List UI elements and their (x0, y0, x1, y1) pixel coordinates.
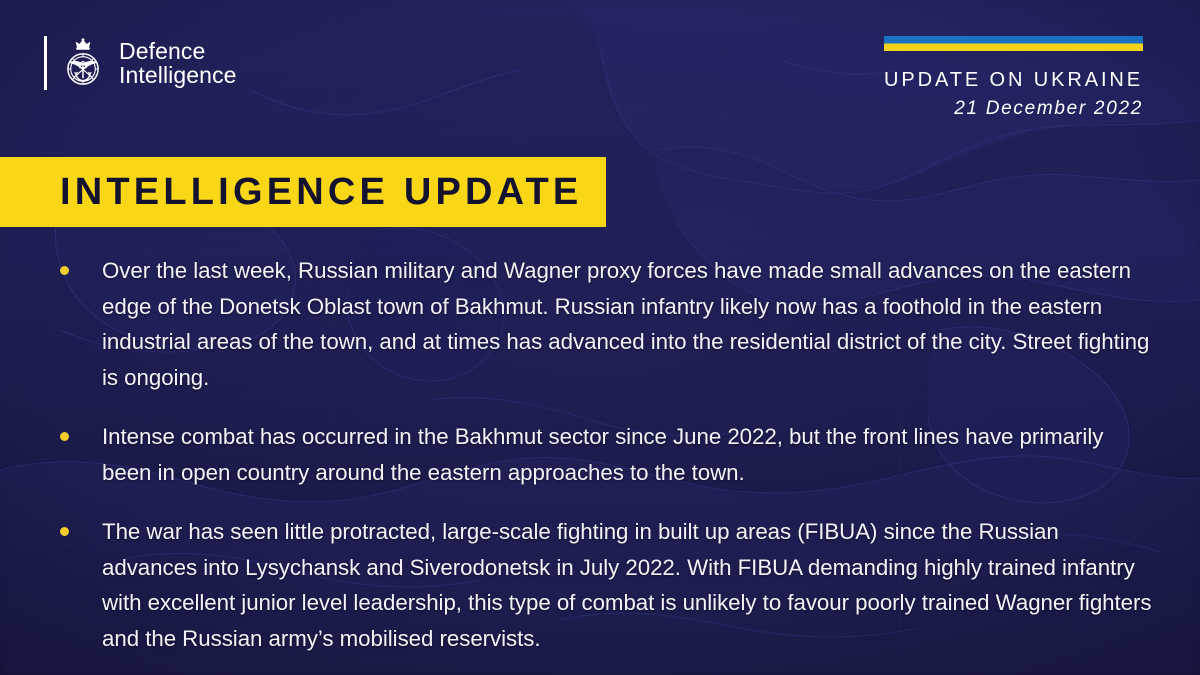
header-meta: UPDATE ON UKRAINE 21 December 2022 (884, 36, 1143, 121)
update-on-ukraine-label: UPDATE ON UKRAINE (884, 68, 1143, 93)
bullet-dot-icon (60, 527, 69, 536)
intelligence-update-banner: INTELLIGENCE UPDATE (0, 157, 606, 227)
list-item: Over the last week, Russian military and… (60, 253, 1154, 395)
mod-tri-service-crest-icon (61, 36, 105, 90)
brand-lockup: Defence Intelligence (44, 36, 237, 90)
banner-title: INTELLIGENCE UPDATE (60, 173, 582, 211)
ukraine-flag-bar-icon (884, 36, 1143, 51)
brand-divider-rule (44, 36, 47, 90)
intelligence-update-poster: Defence Intelligence UPDATE ON UKRAINE 2… (0, 0, 1200, 675)
brand-wordmark: Defence Intelligence (119, 39, 237, 87)
brand-line-defence: Defence (119, 39, 237, 63)
list-item: The war has seen little protracted, larg… (60, 514, 1154, 656)
bullet-dot-icon (60, 266, 69, 275)
bullet-text: The war has seen little protracted, larg… (102, 514, 1154, 656)
bullet-text: Intense combat has occurred in the Bakhm… (102, 419, 1154, 490)
bullet-dot-icon (60, 432, 69, 441)
publication-date: 21 December 2022 (884, 97, 1143, 121)
bullet-text: Over the last week, Russian military and… (102, 253, 1154, 395)
brand-line-intelligence: Intelligence (119, 63, 237, 87)
list-item: Intense combat has occurred in the Bakhm… (60, 419, 1154, 490)
page-header: Defence Intelligence UPDATE ON UKRAINE 2… (0, 0, 1200, 150)
bullet-list: Over the last week, Russian military and… (60, 253, 1154, 656)
